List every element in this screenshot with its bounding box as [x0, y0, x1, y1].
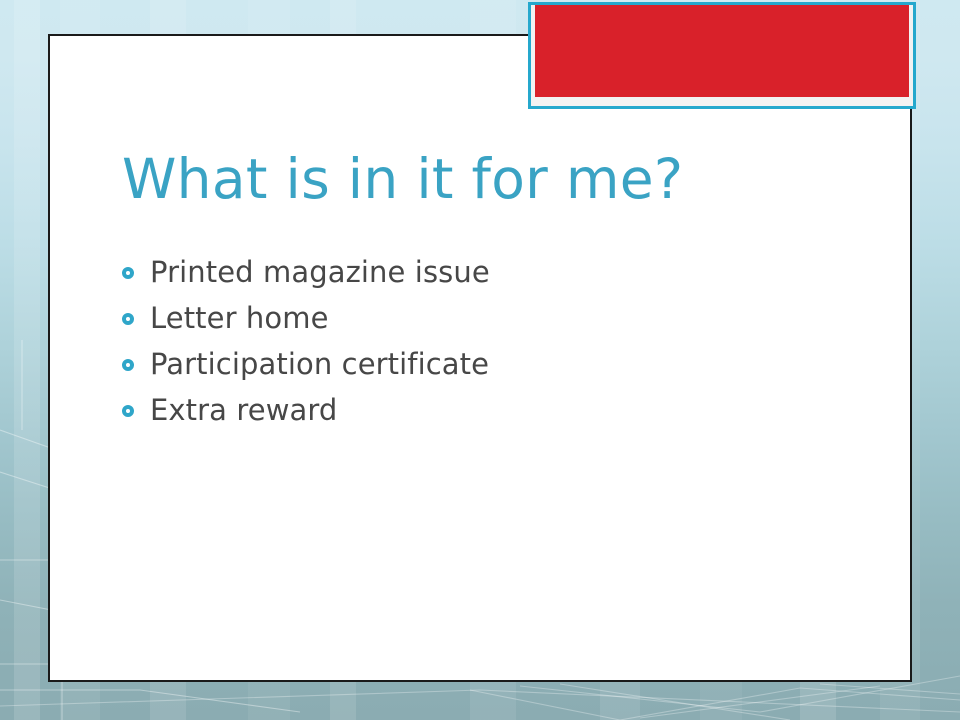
- slide-canvas: What is in it for me? Printed magazine i…: [48, 34, 912, 682]
- red-accent-banner-fill: [535, 5, 909, 97]
- ring-bullet-icon: [122, 313, 134, 325]
- list-item-label: Letter home: [150, 301, 329, 335]
- ring-bullet-icon: [122, 405, 134, 417]
- page-title: What is in it for me?: [122, 150, 862, 209]
- list-item: Letter home: [122, 295, 862, 341]
- list-item: Extra reward: [122, 387, 862, 433]
- list-item: Printed magazine issue: [122, 249, 862, 295]
- bullet-list: Printed magazine issue Letter home Parti…: [122, 249, 862, 433]
- list-item-label: Printed magazine issue: [150, 255, 490, 289]
- list-item-label: Extra reward: [150, 393, 337, 427]
- ring-bullet-icon: [122, 267, 134, 279]
- red-accent-banner: [528, 2, 916, 109]
- list-item: Participation certificate: [122, 341, 862, 387]
- presentation-slide: What is in it for me? Printed magazine i…: [0, 0, 960, 720]
- ring-bullet-icon: [122, 359, 134, 371]
- list-item-label: Participation certificate: [150, 347, 489, 381]
